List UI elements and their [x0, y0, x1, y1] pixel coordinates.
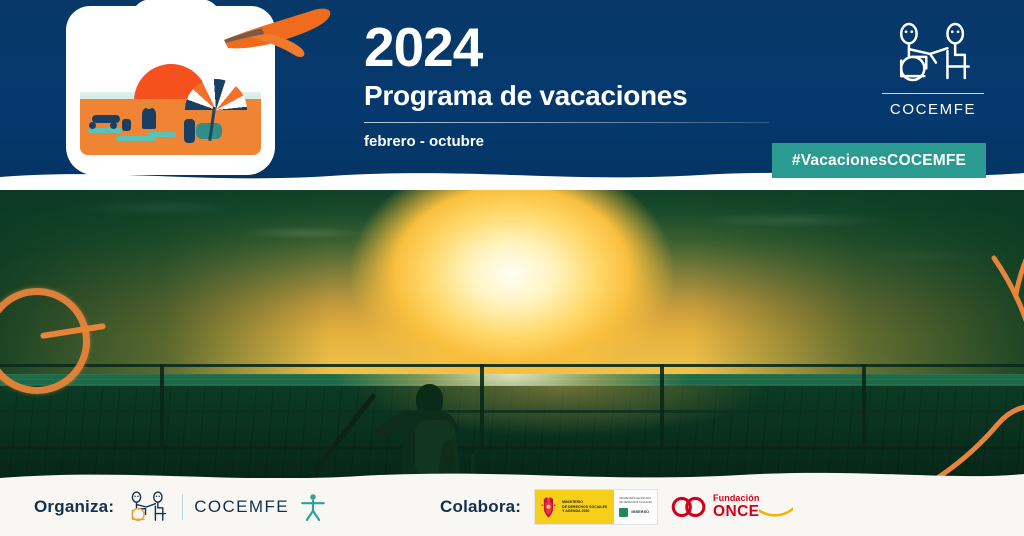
beach-wheel — [89, 122, 96, 129]
poster-year: 2024 — [364, 20, 784, 75]
beach-wheel — [110, 122, 117, 129]
cocemfe-wordmark-footer: COCEMFE — [194, 497, 289, 517]
cocemfe-wordmark: COCEMFE — [878, 101, 988, 118]
fundacion-once-logo: Fundación ONCE — [671, 494, 793, 520]
seated-person-figure — [142, 107, 156, 129]
cocemfe-handshake-icon — [125, 491, 171, 523]
deck-sun-glow — [0, 386, 1024, 478]
once-wordmark: Fundación ONCE — [713, 494, 759, 520]
once-swoosh-icon — [759, 507, 793, 519]
beach-chair-figure — [92, 115, 120, 123]
title-divider — [364, 122, 769, 123]
ministerio-block: MINISTERIO DE DERECHOS SOCIALES Y AGENDA… — [535, 490, 614, 524]
cocemfe-logo-divider — [882, 93, 984, 94]
organiza-label: Organiza: — [34, 497, 114, 517]
title-block: 2024 Programa de vacaciones febrero - oc… — [364, 20, 784, 150]
footer-divider — [182, 494, 183, 520]
umbrella-pole — [208, 107, 216, 141]
ministerio-line3: Y AGENDA 2030 — [562, 509, 607, 514]
once-line2: ONCE — [713, 504, 759, 520]
gobierno-espana-logo: MINISTERIO DE DERECHOS SOCIALES Y AGENDA… — [534, 489, 658, 525]
hashtag-banner: #VacacionesCOCEMFE — [772, 143, 986, 178]
person-with-crutches-figure — [385, 384, 469, 478]
person-head — [144, 99, 154, 109]
imserso-mark-icon — [619, 508, 628, 517]
suitcase-beach-illustration — [68, 8, 273, 173]
spain-coat-of-arms-icon — [540, 495, 557, 520]
vacation-program-poster: 2024 Programa de vacaciones febrero - oc… — [0, 0, 1024, 536]
sunset-pier-photo — [0, 178, 1024, 478]
airplane-icon — [218, 6, 338, 60]
beach-umbrella-icon — [185, 79, 247, 141]
railing-post — [160, 364, 164, 448]
rope-icon — [886, 402, 1024, 478]
person-arms-open-icon — [300, 492, 326, 522]
umbrella-canopy — [185, 79, 247, 110]
railing-icon — [0, 410, 1024, 413]
beach-mat — [148, 132, 176, 137]
railing-post — [660, 364, 664, 448]
railing-post — [480, 364, 484, 448]
beach-bag — [122, 119, 131, 131]
railing-icon — [0, 446, 1024, 449]
secretaria-line2: DE DERECHOS SOCIALES — [619, 501, 652, 505]
colabora-group: Colabora: MINISTERIO DE DERECHOS SOCIALE… — [440, 489, 793, 525]
colabora-label: Colabora: — [440, 497, 521, 517]
poster-subtitle: Programa de vacaciones — [364, 81, 784, 110]
organiza-group: Organiza: — [34, 491, 326, 523]
poster-dates: febrero - octubre — [364, 133, 784, 150]
imserso-block: SECRETARÍA DE ESTADO DE DERECHOS SOCIALE… — [614, 490, 657, 524]
rope-icon — [954, 218, 1024, 368]
secretaria-text: SECRETARÍA DE ESTADO DE DERECHOS SOCIALE… — [619, 497, 652, 504]
ministerio-text: MINISTERIO DE DERECHOS SOCIALES Y AGENDA… — [562, 500, 607, 515]
railing-post — [862, 364, 866, 448]
imserso-label: IMSERSO — [631, 510, 649, 514]
poster-footer: Organiza: — [0, 478, 1024, 536]
once-rings-icon — [671, 495, 707, 519]
cocemfe-handshake-icon — [880, 22, 986, 82]
railing-icon — [0, 364, 1024, 367]
once-line1: Fundación — [713, 494, 759, 503]
imserso-row: IMSERSO — [619, 508, 652, 517]
cocemfe-header-logo: COCEMFE — [878, 22, 988, 118]
standing-crutch-icon — [452, 436, 472, 478]
